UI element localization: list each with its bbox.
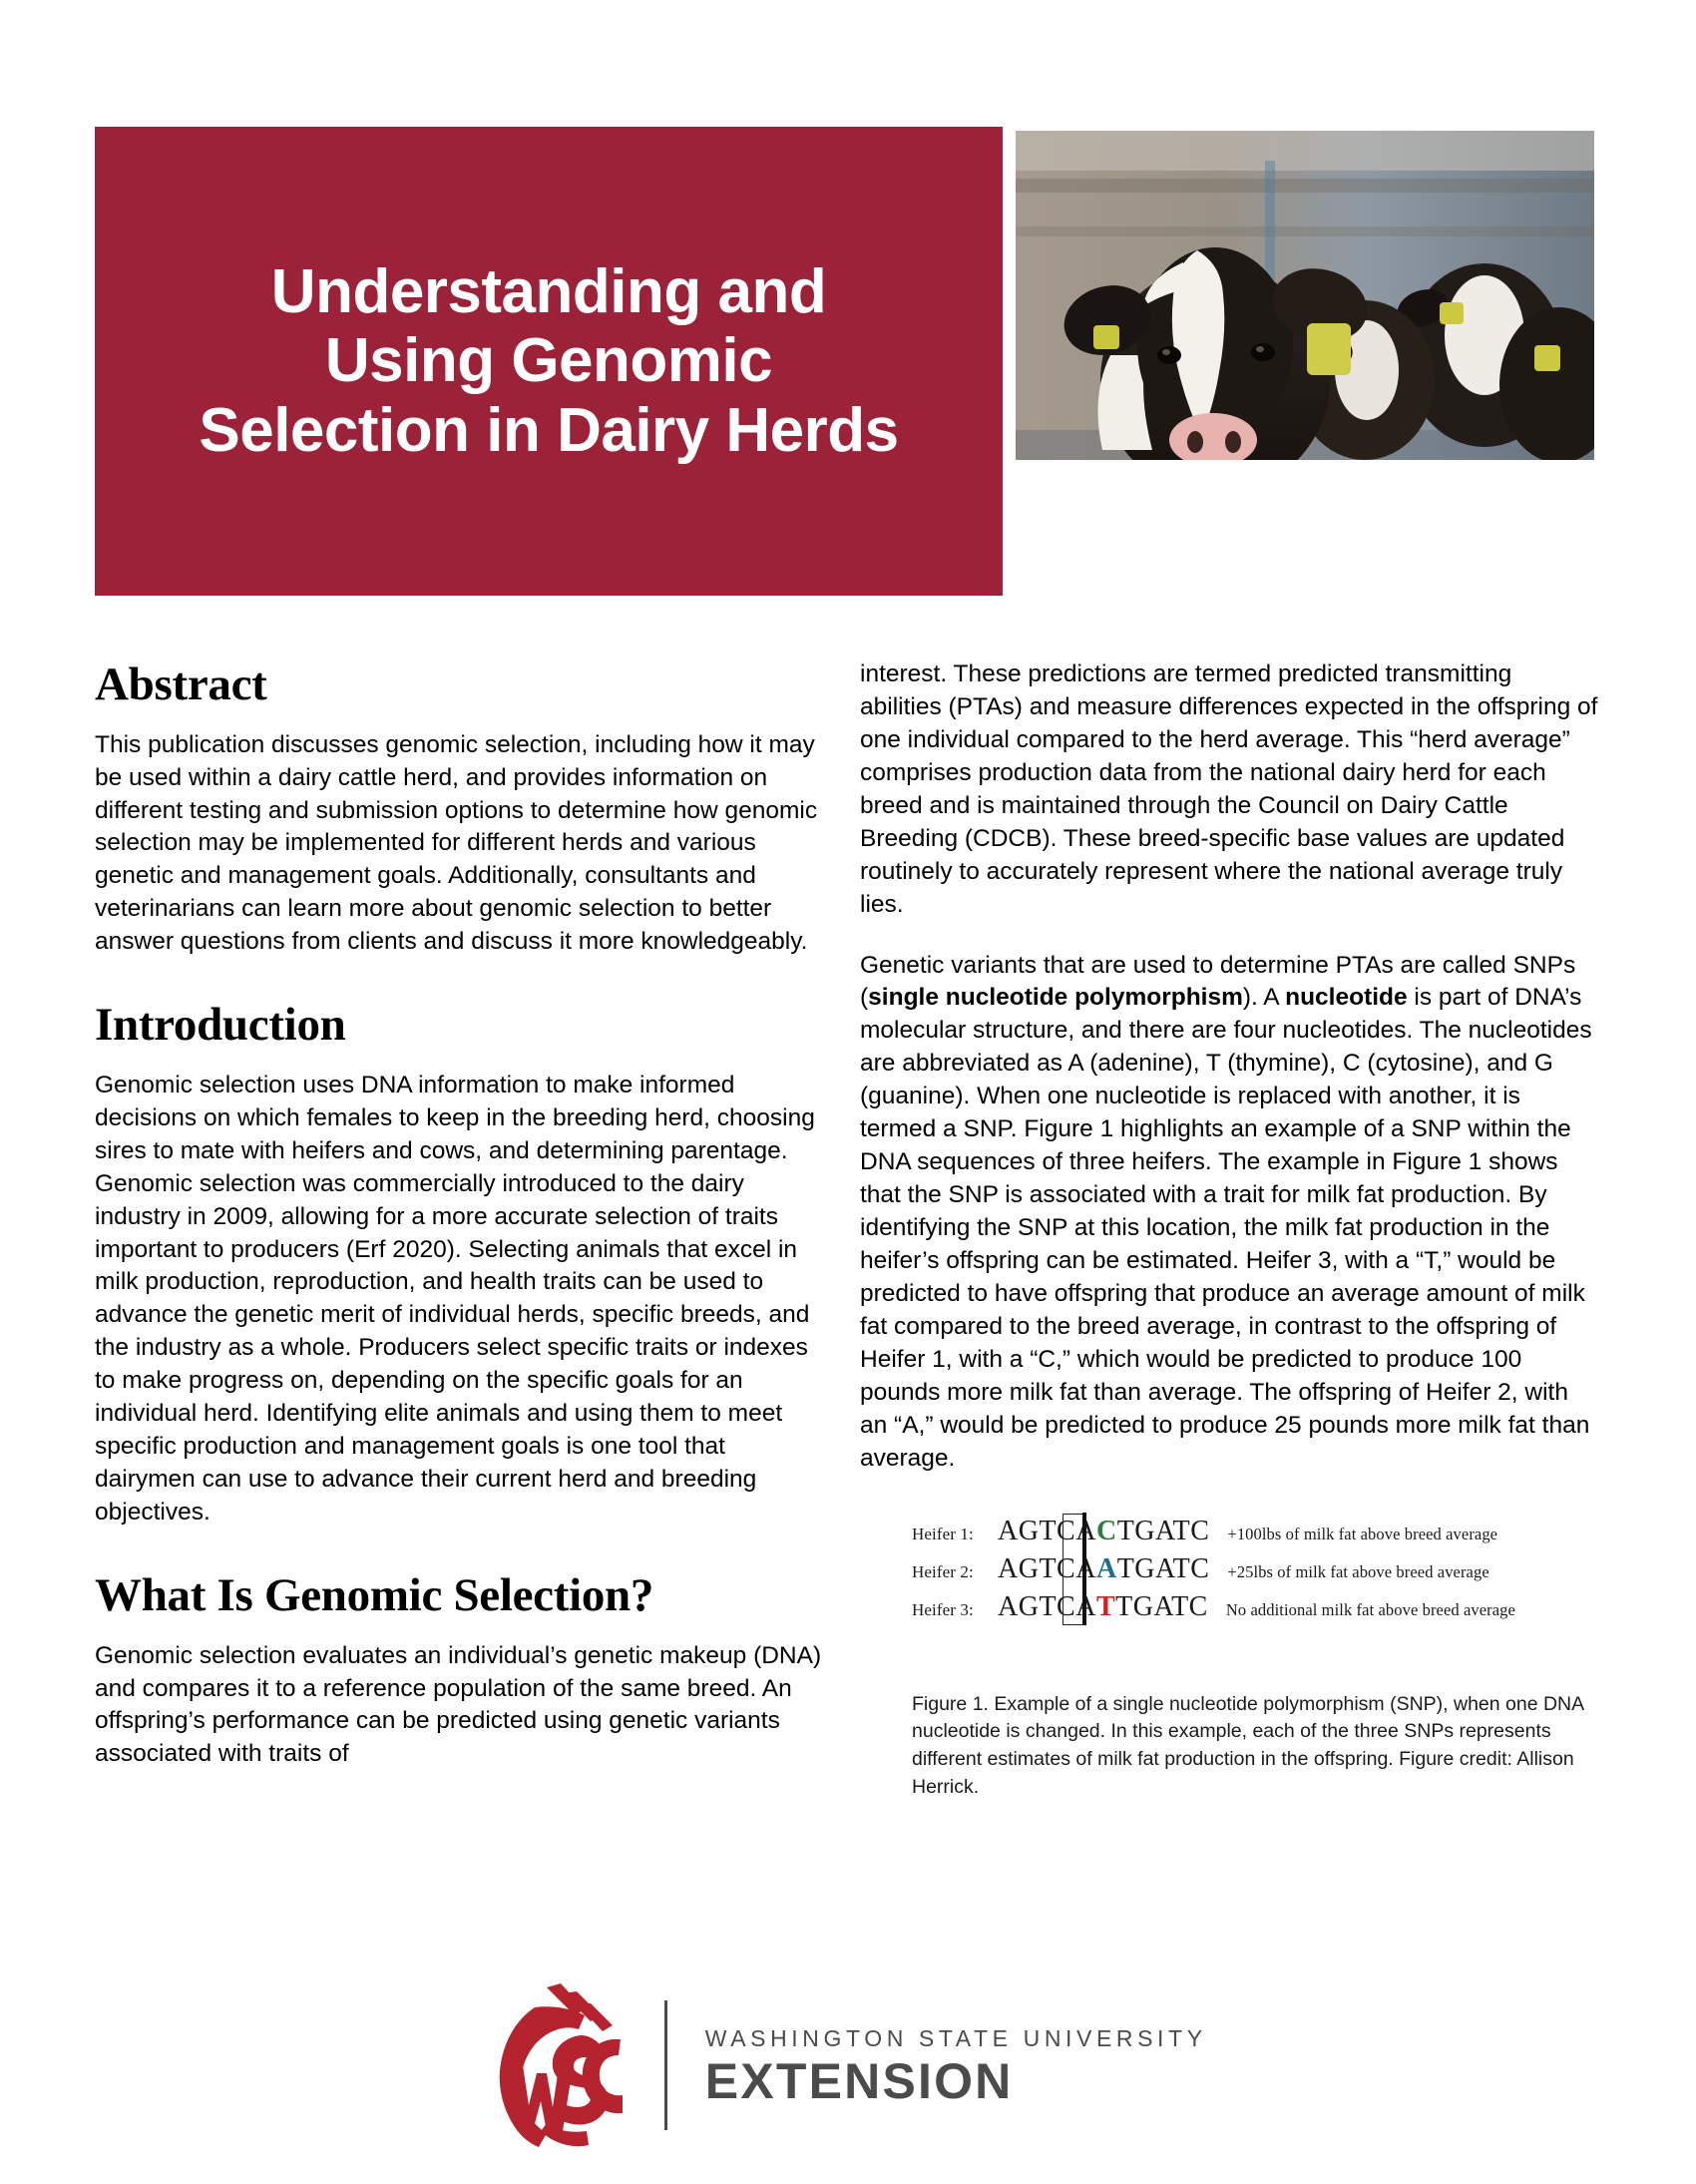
dna-row: Heifer 1: AGTCACTGATC +100lbs of milk fa… [912,1516,1580,1553]
snp-paragraph: Genetic variants that are used to determ… [860,950,1598,1476]
snp-nucleotide: A [1096,1553,1117,1584]
dna-sequence: AGTCATTGATC [998,1591,1208,1623]
heifer-label: Heifer 3: [912,1600,998,1620]
dna-sequence: AGTCAATGATC [998,1553,1209,1585]
heifer-label: Heifer 1: [912,1525,998,1544]
dna-row: Heifer 3: AGTCATTGATC No additional milk… [912,1591,1580,1629]
cow-photo-illustration [1016,131,1594,460]
dna-suffix: TGATC [1115,1591,1208,1622]
university-name: WASHINGTON STATE UNIVERSITY [705,2025,1207,2052]
term-single-nucleotide-polymorphism: single nucleotide polymorphism [868,984,1243,1011]
dna-suffix: TGATC [1117,1553,1210,1584]
milk-fat-note: No additional milk fat above breed avera… [1208,1600,1515,1620]
term-nucleotide: nucleotide [1285,984,1408,1011]
wsu-cougar-head-icon [489,1981,636,2149]
snp-text-part-2: ). A [1243,984,1285,1011]
abstract-heading: Abstract [95,658,828,711]
introduction-heading: Introduction [95,999,828,1052]
page-title: Understanding and Using Genomic Selectio… [199,257,898,465]
logo-lockup: WASHINGTON STATE UNIVERSITY EXTENSION [489,1981,1206,2149]
abstract-paragraph: This publication discusses genomic selec… [95,729,828,960]
snp-text-part-3: is part of DNA’s molecular structure, an… [860,984,1592,1471]
logo-wordmark: WASHINGTON STATE UNIVERSITY EXTENSION [705,2025,1207,2106]
what-is-genomic-selection-heading: What Is Genomic Selection? [95,1569,828,1622]
heifer-label: Heifer 2: [912,1562,998,1582]
figure-1: Heifer 1: AGTCACTGATC +100lbs of milk fa… [912,1510,1580,1802]
hero-photo-dairy-cows [1016,131,1594,460]
milk-fat-note: +25lbs of milk fat above breed average [1209,1562,1488,1582]
extension-name: EXTENSION [705,2056,1207,2106]
dna-suffix: TGATC [1117,1516,1210,1546]
dna-prefix: AGTCA [998,1553,1096,1584]
right-column: interest. These predictions are termed p… [860,658,1598,1801]
dna-sequence: AGTCACTGATC [998,1516,1209,1547]
document-header: Understanding and Using Genomic Selectio… [0,0,1696,469]
dna-row: Heifer 2: AGTCAATGATC +25lbs of milk fat… [912,1553,1580,1591]
introduction-paragraph: Genomic selection uses DNA information t… [95,1070,828,1529]
dna-prefix: AGTCA [998,1591,1096,1622]
pta-paragraph: interest. These predictions are termed p… [860,658,1598,922]
left-column: Abstract This publication discusses geno… [95,658,828,1771]
milk-fat-note: +100lbs of milk fat above breed average [1209,1525,1497,1544]
dna-sequence-diagram: Heifer 1: AGTCACTGATC +100lbs of milk fa… [912,1510,1580,1629]
logo-divider [664,2000,666,2130]
dna-prefix: AGTCA [998,1516,1096,1546]
snp-nucleotide: C [1096,1516,1117,1546]
title-banner: Understanding and Using Genomic Selectio… [95,127,1003,596]
wsu-extension-logo: WASHINGTON STATE UNIVERSITY EXTENSION [0,1970,1696,2160]
figure-1-caption: Figure 1. Example of a single nucleotide… [912,1691,1610,1802]
what-is-genomic-selection-paragraph: Genomic selection evaluates an individua… [95,1640,828,1772]
snp-nucleotide: T [1096,1591,1115,1622]
